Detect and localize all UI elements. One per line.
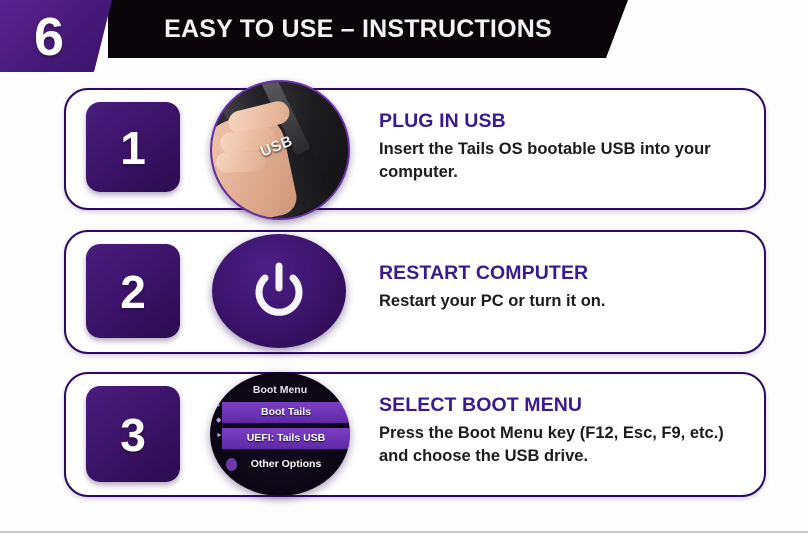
- step-text-3: SELECT BOOT MENU Press the Boot Menu key…: [379, 394, 750, 469]
- step-number-tile-2: 2: [86, 244, 180, 338]
- step-title-3: SELECT BOOT MENU: [379, 394, 750, 417]
- step-card-2[interactable]: 2 RESTART COMPUTER Restart your PC or tu…: [64, 230, 766, 354]
- instructions-infographic: EASY TO USE – INSTRUCTIONS 6 1 USB PLUG …: [0, 0, 808, 538]
- finger-shape: [216, 151, 267, 173]
- step-section-number: 6: [0, 0, 98, 72]
- boot-menu-title: Boot Menu: [210, 384, 350, 396]
- step-text-1: PLUG IN USB Insert the Tails OS bootable…: [379, 110, 750, 185]
- power-button-icon: [212, 234, 346, 348]
- step-title-2: RESTART COMPUTER: [379, 262, 750, 285]
- power-glyph-svg: [246, 258, 312, 324]
- step-title-1: PLUG IN USB: [379, 110, 750, 133]
- step-card-3[interactable]: 3 Boot Menu ●◆► Boot Tails UEFI: Tails U…: [64, 372, 766, 497]
- page-header: EASY TO USE – INSTRUCTIONS 6: [0, 0, 808, 68]
- boot-menu-item-boot-tails[interactable]: Boot Tails: [222, 402, 350, 423]
- step-text-2: RESTART COMPUTER Restart your PC or turn…: [379, 262, 750, 313]
- step-number-tile-1: 1: [86, 102, 180, 192]
- footer-divider: [0, 531, 808, 533]
- page-title: EASY TO USE – INSTRUCTIONS: [118, 0, 598, 58]
- usb-drive-photo: USB: [210, 80, 350, 220]
- step-card-1[interactable]: 1 USB PLUG IN USB Insert the Tails OS bo…: [64, 88, 766, 210]
- step-description-2: Restart your PC or turn it on.: [379, 290, 750, 313]
- boot-menu-item-uefi-tails-usb[interactable]: UEFI: Tails USB: [222, 428, 350, 449]
- step-description-1: Insert the Tails OS bootable USB into yo…: [379, 138, 750, 185]
- step-description-3: Press the Boot Menu key (F12, Esc, F9, e…: [379, 422, 750, 469]
- step-number-tile-3: 3: [86, 386, 180, 482]
- boot-menu-item-other-options[interactable]: Other Options: [222, 454, 350, 475]
- step-section-badge: 6: [0, 0, 112, 72]
- boot-menu-screenshot: Boot Menu ●◆► Boot Tails UEFI: Tails USB…: [210, 372, 350, 496]
